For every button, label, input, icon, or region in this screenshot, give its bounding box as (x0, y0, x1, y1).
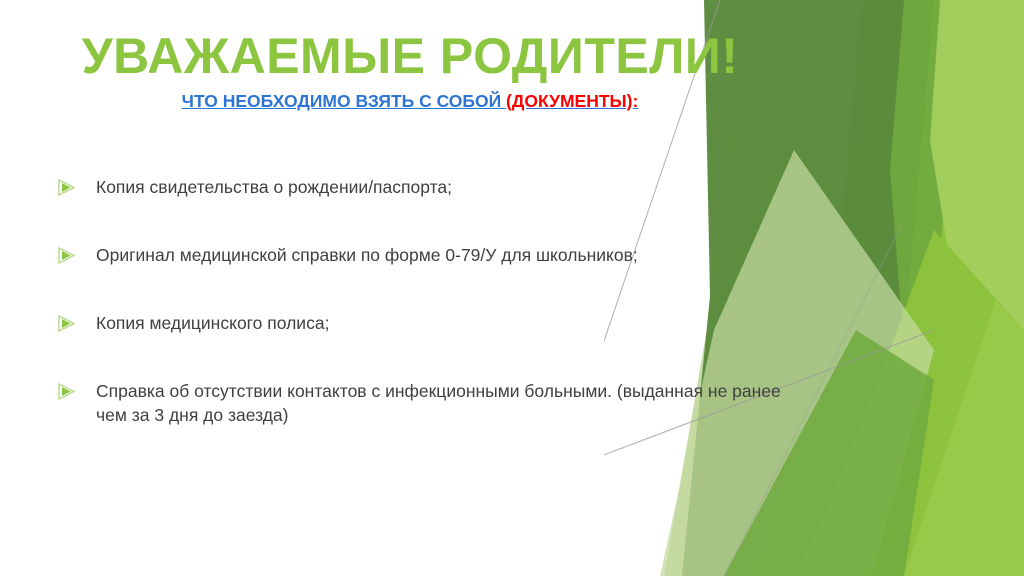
list-item: Копия свидетельства о рождении/паспорта; (58, 175, 803, 200)
list-item-label: Копия медицинского полиса; (96, 311, 803, 336)
list-item-label: Справка об отсутствии контактов с инфекц… (96, 379, 796, 429)
subtitle-main-text: ЧТО НЕОБХОДИМО ВЗЯТЬ С СОБОЙ (182, 91, 506, 111)
decor-shape-light-bottom (904, 300, 1024, 576)
page-title: УВАЖАЕМЫЕ РОДИТЕЛИ! (0, 30, 820, 83)
play-triangle-icon (58, 383, 75, 400)
list-item-label: Оригинал медицинской справки по форме 0-… (96, 243, 803, 268)
play-triangle-icon (58, 247, 75, 264)
document-checklist: Копия свидетельства о рождении/паспорта;… (58, 175, 803, 428)
page-subtitle: ЧТО НЕОБХОДИМО ВЗЯТЬ С СОБОЙ (ДОКУМЕНТЫ)… (0, 91, 820, 112)
slide-canvas: УВАЖАЕМЫЕ РОДИТЕЛИ! ЧТО НЕОБХОДИМО ВЗЯТЬ… (0, 0, 1024, 576)
list-item: Оригинал медицинской справки по форме 0-… (58, 243, 803, 268)
list-item: Справка об отсутствии контактов с инфекц… (58, 379, 803, 429)
play-triangle-icon (58, 179, 75, 196)
decor-shape-mid-spike (890, 0, 964, 350)
decor-shape-bright-lower (800, 230, 1024, 576)
list-item-label: Копия свидетельства о рождении/паспорта; (96, 175, 803, 200)
decor-shape-light-valley (930, 0, 1024, 420)
list-item: Копия медицинского полиса; (58, 311, 803, 336)
subtitle-accent-text: (ДОКУМЕНТЫ): (506, 91, 638, 111)
play-triangle-icon (58, 315, 75, 332)
title-block: УВАЖАЕМЫЕ РОДИТЕЛИ! ЧТО НЕОБХОДИМО ВЗЯТЬ… (0, 30, 820, 112)
